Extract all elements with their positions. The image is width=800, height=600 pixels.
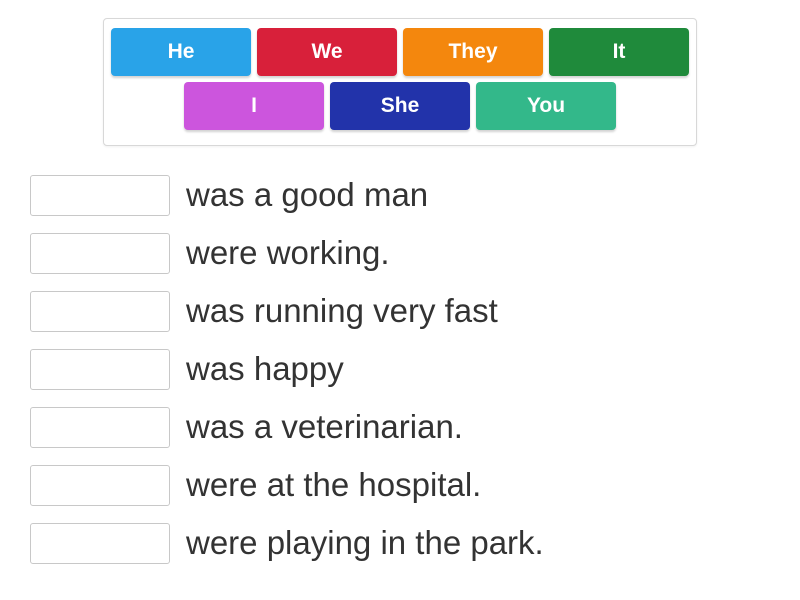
word-tile-you[interactable]: You (476, 82, 616, 130)
question-row: was running very fast (30, 282, 770, 340)
word-tile-we[interactable]: We (257, 28, 397, 76)
word-bank: He We They It I She You (103, 18, 697, 146)
question-text: was happy (186, 351, 344, 387)
question-list: was a good man were working. was running… (30, 166, 770, 572)
question-row: was a good man (30, 166, 770, 224)
word-tile-he[interactable]: He (111, 28, 251, 76)
exercise-page: He We They It I She You was a good man w… (0, 0, 800, 600)
question-text: was a good man (186, 177, 428, 213)
question-text: was a veterinarian. (186, 409, 463, 445)
question-row: was happy (30, 340, 770, 398)
question-row: were at the hospital. (30, 456, 770, 514)
word-tile-they[interactable]: They (403, 28, 543, 76)
question-text: were working. (186, 235, 390, 271)
answer-slot[interactable] (30, 233, 170, 274)
word-tile-it[interactable]: It (549, 28, 689, 76)
answer-slot[interactable] (30, 291, 170, 332)
word-bank-row-2: I She You (104, 82, 696, 130)
word-tile-i[interactable]: I (184, 82, 324, 130)
question-text: were at the hospital. (186, 467, 481, 503)
question-row: were working. (30, 224, 770, 282)
answer-slot[interactable] (30, 175, 170, 216)
answer-slot[interactable] (30, 465, 170, 506)
question-row: were playing in the park. (30, 514, 770, 572)
answer-slot[interactable] (30, 523, 170, 564)
answer-slot[interactable] (30, 349, 170, 390)
word-tile-she[interactable]: She (330, 82, 470, 130)
question-text: were playing in the park. (186, 525, 544, 561)
answer-slot[interactable] (30, 407, 170, 448)
word-bank-row-1: He We They It (104, 28, 696, 76)
question-text: was running very fast (186, 293, 498, 329)
question-row: was a veterinarian. (30, 398, 770, 456)
